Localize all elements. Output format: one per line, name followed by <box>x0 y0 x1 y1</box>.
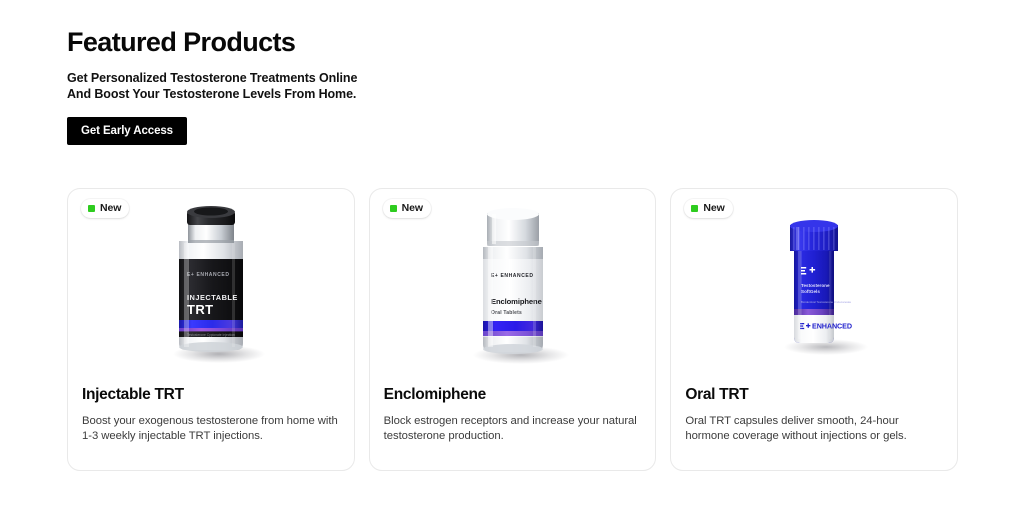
green-square-icon <box>691 205 698 212</box>
green-square-icon <box>390 205 397 212</box>
status-badge: New <box>81 199 129 218</box>
product-card-injectable-trt[interactable]: New <box>67 188 355 471</box>
product-title: Enclomiphene <box>384 385 642 405</box>
product-card-body: Oral TRT Oral TRT capsules deliver smoot… <box>685 385 943 444</box>
badge-label: New <box>100 203 121 214</box>
status-badge: New <box>684 199 732 218</box>
product-description: Boost your exogenous testosterone from h… <box>82 414 340 444</box>
svg-text:TRT: TRT <box>187 302 213 317</box>
svg-text:Bioidentical Testosterone Unde: Bioidentical Testosterone Undecanoate <box>801 300 851 304</box>
svg-text:ENHANCED: ENHANCED <box>812 322 852 331</box>
product-description: Oral TRT capsules deliver smooth, 24-hou… <box>685 414 943 444</box>
green-square-icon <box>88 205 95 212</box>
get-early-access-button[interactable]: Get Early Access <box>67 117 187 145</box>
product-card-body: Injectable TRT Boost your exogenous test… <box>82 385 340 444</box>
product-card-enclomiphene[interactable]: New <box>369 188 657 471</box>
svg-text:INJECTABLE: INJECTABLE <box>187 293 238 302</box>
status-badge: New <box>383 199 431 218</box>
featured-products-page: Featured Products Get Personalized Testo… <box>0 0 1024 531</box>
svg-text:Testosterone: Testosterone <box>801 283 830 288</box>
svg-text:E+ ENHANCED: E+ ENHANCED <box>187 272 230 278</box>
badge-label: New <box>402 203 423 214</box>
svg-text:E+ ENHANCED: E+ ENHANCED <box>491 273 534 279</box>
product-card-body: Enclomiphene Block estrogen receptors an… <box>384 385 642 444</box>
svg-text:Testosterone Cypionate Injecti: Testosterone Cypionate Injection <box>187 333 235 337</box>
svg-text:Oral Tablets: Oral Tablets <box>491 310 522 316</box>
product-title: Injectable TRT <box>82 385 340 405</box>
injectable-trt-vial-image: E+ ENHANCED INJECTABLE TRT Testosterone … <box>131 197 291 377</box>
product-description: Block estrogen receptors and increase yo… <box>384 414 642 444</box>
badge-label: New <box>703 203 724 214</box>
svg-text:SoftGels: SoftGels <box>801 289 820 294</box>
page-subtitle: Get Personalized Testosterone Treatments… <box>67 71 367 102</box>
enclomiphene-bottle-image: E+ ENHANCED Enclomiphene Oral Tablets <box>433 197 593 377</box>
oral-trt-bottle-image: Testosterone SoftGels Bioidentical Testo… <box>734 197 894 377</box>
page-title: Featured Products <box>67 25 667 59</box>
page-header: Featured Products Get Personalized Testo… <box>67 25 667 145</box>
product-title: Oral TRT <box>685 385 943 405</box>
product-card-oral-trt[interactable]: New <box>670 188 958 471</box>
product-card-grid: New <box>67 188 958 471</box>
